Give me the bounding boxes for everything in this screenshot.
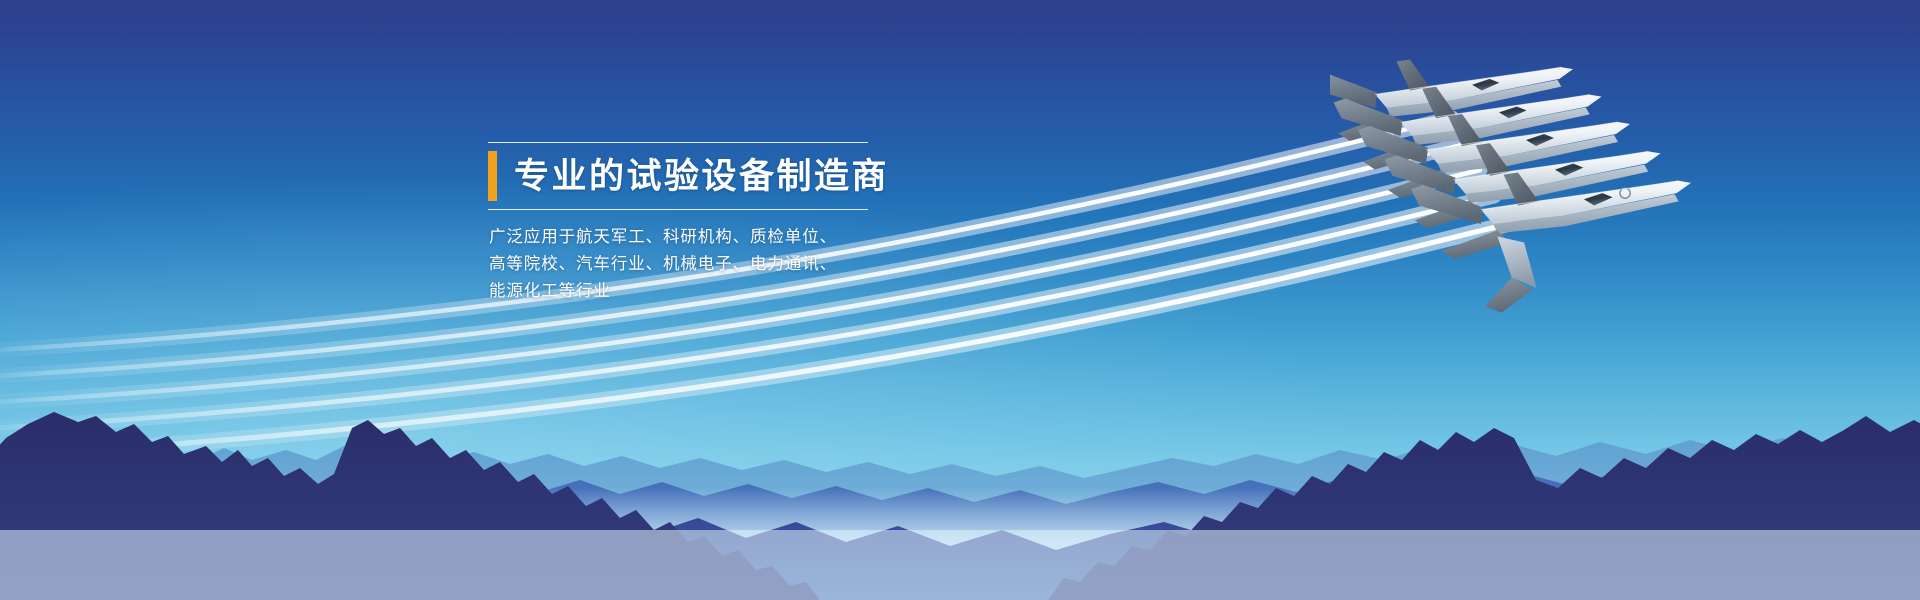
sky-background: [0, 0, 1920, 600]
hero-banner: 专业的试验设备制造商 广泛应用于航天军工、科研机构、质检单位、 高等院校、汽车行…: [0, 0, 1920, 600]
divider-line-bottom: [488, 209, 868, 210]
subtitle-block: 广泛应用于航天军工、科研机构、质检单位、 高等院校、汽车行业、机械电子、电力通讯…: [488, 224, 908, 305]
headline-row: 专业的试验设备制造商: [488, 143, 908, 209]
subtitle-line-1: 广泛应用于航天军工、科研机构、质检单位、: [489, 224, 908, 251]
subtitle-line-2: 高等院校、汽车行业、机械电子、电力通讯、: [489, 251, 908, 278]
accent-bar: [488, 151, 497, 201]
banner-copy-block: 专业的试验设备制造商 广泛应用于航天军工、科研机构、质检单位、 高等院校、汽车行…: [488, 142, 908, 305]
page-title: 专业的试验设备制造商: [514, 159, 889, 194]
subtitle-line-3: 能源化工等行业: [489, 278, 908, 305]
